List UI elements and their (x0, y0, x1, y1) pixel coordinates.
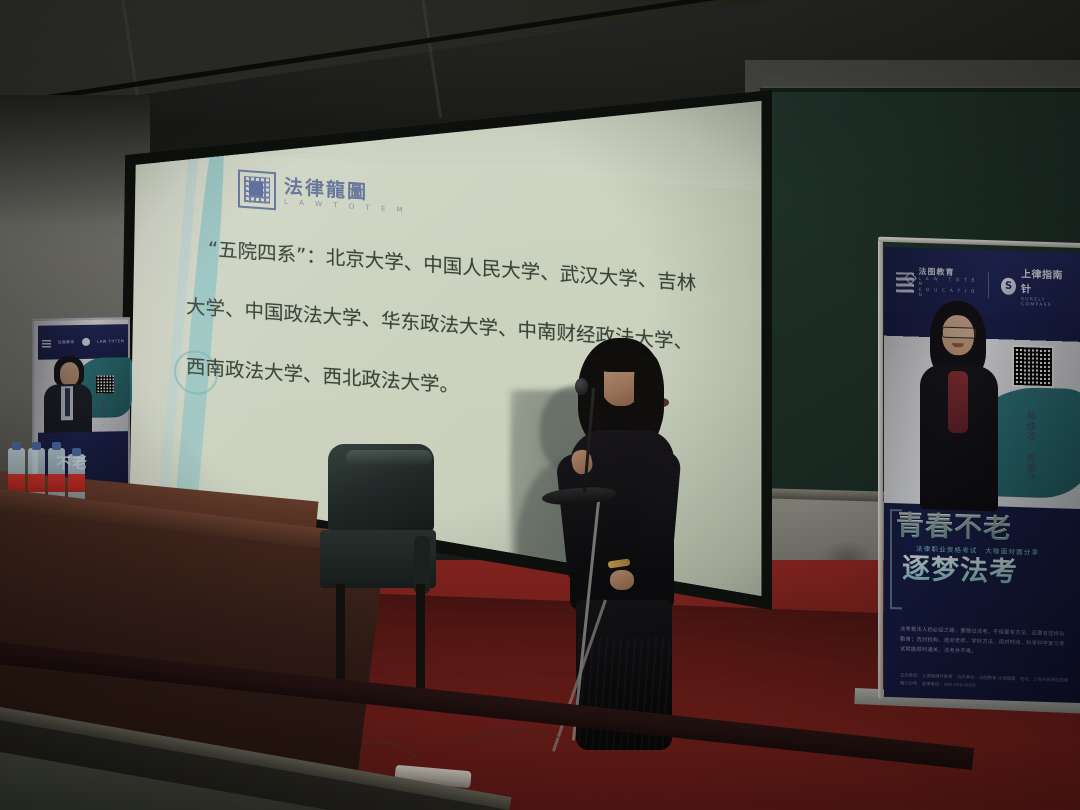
compass-badge-icon: S (1001, 277, 1016, 294)
speaker-hair-side (634, 354, 664, 442)
lecture-hall-photo: 法律龍圖 L A W T O T E M “五院四系”：北京大学、中国人民大学、… (0, 0, 1080, 810)
chair-back (328, 444, 434, 532)
right-rollup-banner: 法图教育 L A W · T O T E M E D U C A T I O N… (884, 247, 1080, 703)
banner-paragraph: 法考是法人的必经之路，要想过法考，不但要有方法、还要有坚持与勤奋；选对机构、选对… (900, 625, 1068, 660)
law-totem-logo-text: 法图教育 L A W · T O T E M E D U C A T I O N (919, 268, 977, 300)
speaker-person (556, 338, 686, 738)
speaker-hand (610, 570, 634, 590)
water-bottle (48, 448, 65, 500)
banner-portrait (914, 300, 1000, 508)
banner-pole (878, 239, 883, 699)
portrait-mouth (952, 343, 964, 347)
chair-leg (416, 584, 425, 696)
law-totem-mark-icon (896, 272, 914, 293)
banner-footer: 主办单位：上律指南针教育 协办单位：法图教育·法律龍圖 地址：上海市杨浦区国康路… (900, 671, 1072, 692)
water-bottle (68, 454, 85, 500)
banner-person-names: 杨佳芯 · 陈鹏飞 (1024, 411, 1037, 483)
portrait-scarf (948, 371, 968, 434)
qr-code-icon (1012, 345, 1054, 388)
microphone-icon (575, 378, 588, 395)
law-totem-name-en-1: L A W · T O T E M (919, 278, 977, 289)
slide-logo-text: 法律龍圖 L A W T O T E M (284, 177, 407, 215)
qr-code-pattern (1014, 347, 1052, 386)
grid-seal-icon (238, 170, 276, 211)
banner-slogan-line-2: 逐梦法考 (902, 554, 1072, 587)
surely-compass-logo: S 上律指南针 SURELY COMPASS (1001, 265, 1072, 309)
conference-chair (318, 444, 438, 694)
law-totem-education-logo: 法图教育 L A W · T O T E M E D U C A T I O N (896, 267, 976, 300)
surely-compass-text: 上律指南针 SURELY COMPASS (1021, 265, 1072, 309)
surely-compass-name-en: SURELY COMPASS (1021, 297, 1072, 309)
banner-slogan-block: 青春不老 法律职业资格考试 大咖面对面分享 逐梦法考 (884, 505, 1080, 621)
chair-back-highlight (346, 450, 432, 466)
banner-slogan-line-1: 青春不老 (896, 511, 1072, 545)
banner-canvas: 法图教育 L A W · T O T E M E D U C A T I O N… (884, 247, 1080, 703)
surely-compass-name-cn: 上律指南针 (1021, 265, 1072, 297)
speaker-dress-texture (578, 638, 670, 753)
law-totem-name-en-2: E D U C A T I O N (919, 289, 977, 300)
slogan-bracket (890, 509, 902, 609)
glasses-icon (942, 327, 976, 339)
logo-divider (988, 272, 989, 298)
